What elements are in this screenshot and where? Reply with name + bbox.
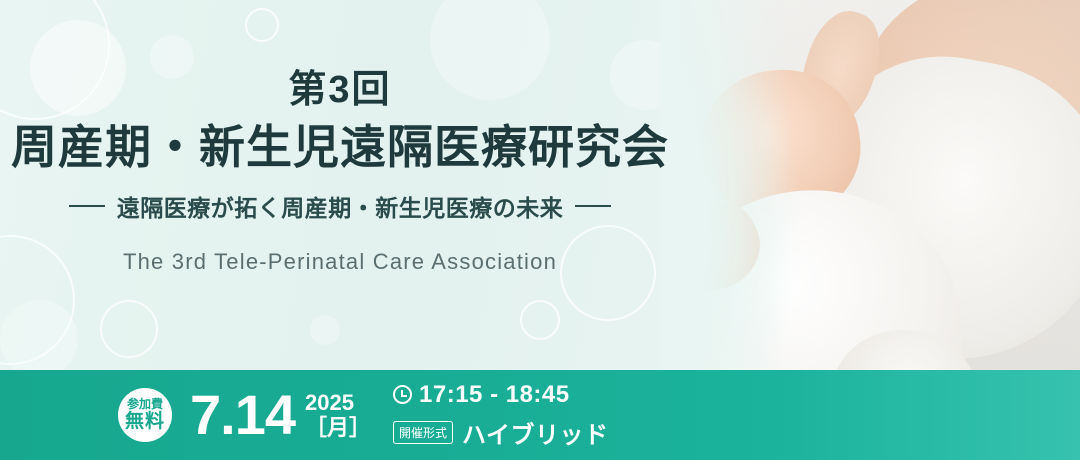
format-label: 開催形式 bbox=[393, 421, 453, 444]
info-bar: 参加費 無料 7.14 2025 ［月］ 17:15 - 18:45 開催形式 … bbox=[0, 370, 1080, 460]
title-line-1: 第3回 bbox=[0, 70, 680, 112]
fee-badge-label: 参加費 bbox=[127, 398, 163, 411]
event-time: 17:15 - 18:45 bbox=[419, 381, 570, 409]
event-format-row: 開催形式 ハイブリッド bbox=[393, 415, 609, 450]
title-line-2: 周産期・新生児遠隔医療研究会 bbox=[0, 120, 680, 175]
bubble-fill-icon bbox=[310, 315, 340, 345]
event-date: 7.14 bbox=[190, 387, 295, 443]
title-block: 第3回 周産期・新生児遠隔医療研究会 遠隔医療が拓く周産期・新生児医療の未来 T… bbox=[0, 70, 680, 275]
event-year: 2025 bbox=[305, 390, 371, 415]
rule-left bbox=[69, 205, 105, 207]
format-value: ハイブリッド bbox=[462, 415, 609, 450]
bubble-ring-icon bbox=[245, 8, 279, 42]
rule-right bbox=[575, 205, 611, 207]
date-details: 2025 ［月］ bbox=[305, 390, 371, 441]
fee-badge: 参加費 無料 bbox=[118, 388, 172, 442]
bubble-ring-icon bbox=[520, 300, 560, 340]
clock-icon bbox=[393, 385, 412, 404]
seminar-banner: 第3回 周産期・新生児遠隔医療研究会 遠隔医療が拓く周産期・新生児医療の未来 T… bbox=[0, 0, 1080, 460]
event-day-of-week: ［月］ bbox=[305, 415, 371, 440]
bubble-fill-icon bbox=[0, 300, 78, 378]
subtitle-text: 遠隔医療が拓く周産期・新生児医療の未来 bbox=[117, 189, 564, 223]
bubble-ring-icon bbox=[100, 300, 158, 358]
event-time-row: 17:15 - 18:45 bbox=[393, 381, 609, 409]
time-and-format: 17:15 - 18:45 開催形式 ハイブリッド bbox=[393, 381, 609, 450]
info-bar-content: 参加費 無料 7.14 2025 ［月］ 17:15 - 18:45 開催形式 … bbox=[118, 370, 609, 460]
subtitle-row: 遠隔医療が拓く周産期・新生児医療の未来 bbox=[0, 189, 680, 223]
fee-badge-value: 無料 bbox=[125, 412, 165, 432]
english-title: The 3rd Tele-Perinatal Care Association bbox=[0, 249, 680, 275]
